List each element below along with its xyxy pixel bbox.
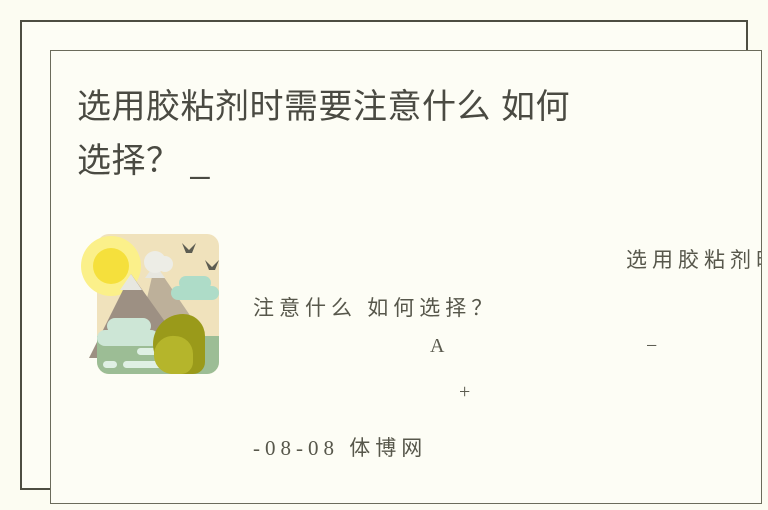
card-frame-inner: 选用胶粘剂时需要注意什么 如何 选择？ _: [50, 50, 762, 504]
landscape-placeholder-icon: [79, 230, 231, 378]
plus-glyph: +: [459, 381, 470, 404]
minus-glyph: −: [646, 335, 657, 358]
page-title: 选用胶粘剂时需要注意什么 如何 选择？ _: [77, 80, 697, 188]
text-fragment-mid: 注意什么 如何选择？: [253, 292, 497, 322]
card-frame-outer: 选用胶粘剂时需要注意什么 如何 选择？ _: [20, 20, 748, 490]
text-fragment-right: 选用胶粘剂时: [626, 244, 762, 274]
text-fragment-bottom: -08-08 体博网: [253, 432, 427, 462]
page-root: 选用胶粘剂时需要注意什么 如何 选择？ _: [0, 0, 768, 510]
glyph-letter-a: A: [430, 335, 444, 358]
